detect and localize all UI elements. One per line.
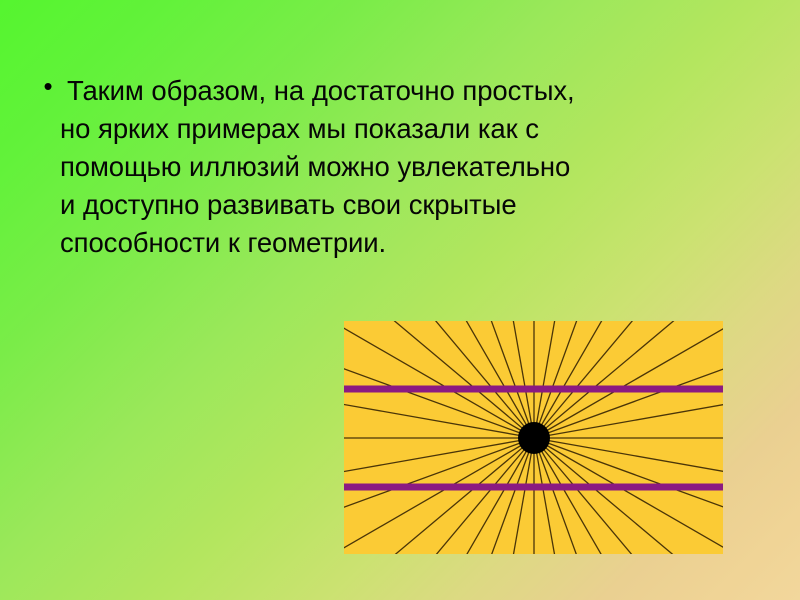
paragraph-line-3: помощью иллюзий можно увлекательно: [60, 151, 570, 182]
paragraph-line-2: но ярких примерах мы показали как с: [60, 113, 539, 144]
bullet-point-icon: •: [36, 72, 60, 86]
slide-canvas: • Таким образом, на достаточно простых, …: [0, 0, 800, 600]
bullet-text-block: • Таким образом, на достаточно простых, …: [36, 72, 596, 262]
paragraph-line-5: способности к геометрии.: [60, 227, 386, 258]
paragraph-text: Таким образом, на достаточно простых, но…: [60, 72, 596, 262]
hering-illusion-svg: [344, 321, 723, 554]
paragraph-line-1: Таким образом, на достаточно простых,: [67, 75, 575, 106]
hering-illusion-figure: [344, 321, 723, 554]
illusion-center-dot: [518, 422, 550, 454]
bullet-list-item: • Таким образом, на достаточно простых, …: [36, 72, 596, 262]
paragraph-line-4: и доступно развивать свои скрытые: [60, 189, 517, 220]
